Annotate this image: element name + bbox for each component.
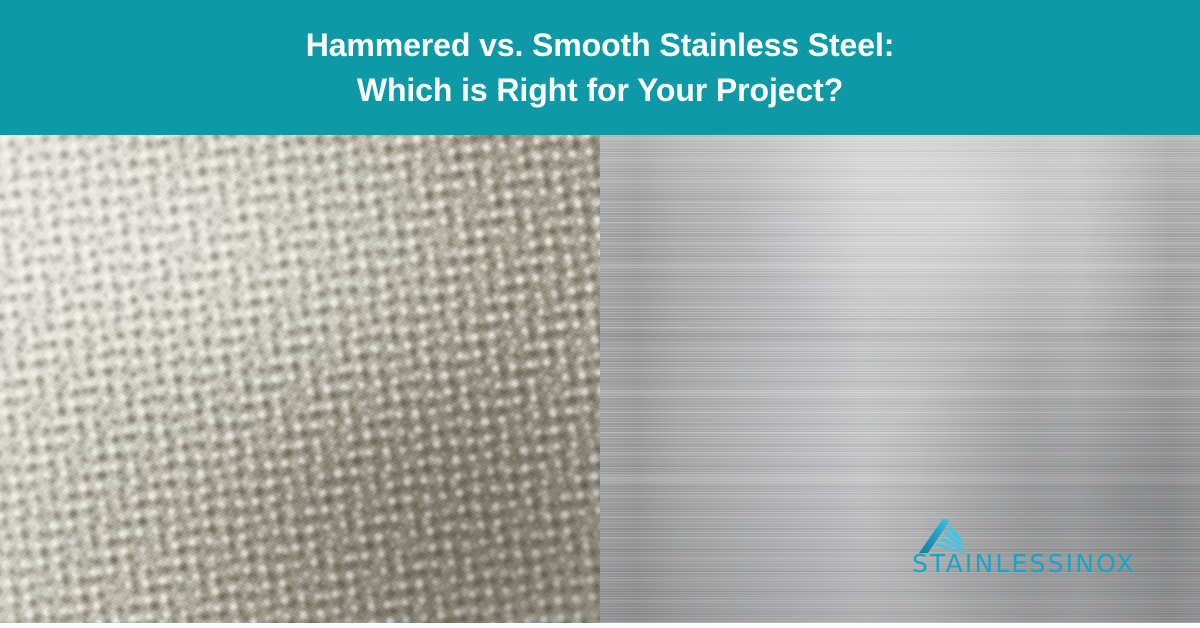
bottom-white-strip bbox=[0, 623, 1200, 628]
smooth-base-layer bbox=[600, 135, 1200, 623]
banner-header: Hammered vs. Smooth Stainless Steel: Whi… bbox=[0, 0, 1200, 135]
promo-banner: Hammered vs. Smooth Stainless Steel: Whi… bbox=[0, 0, 1200, 628]
hammered-dimple-layer-c bbox=[0, 135, 600, 623]
page-title-line-1: Hammered vs. Smooth Stainless Steel: bbox=[306, 23, 895, 67]
page-title-line-2: Which is Right for Your Project? bbox=[357, 68, 843, 112]
hammered-steel-image bbox=[0, 135, 600, 623]
smooth-steel-image: STAINLESSINOX bbox=[600, 135, 1200, 623]
comparison-imagery: STAINLESSINOX bbox=[0, 135, 1200, 623]
